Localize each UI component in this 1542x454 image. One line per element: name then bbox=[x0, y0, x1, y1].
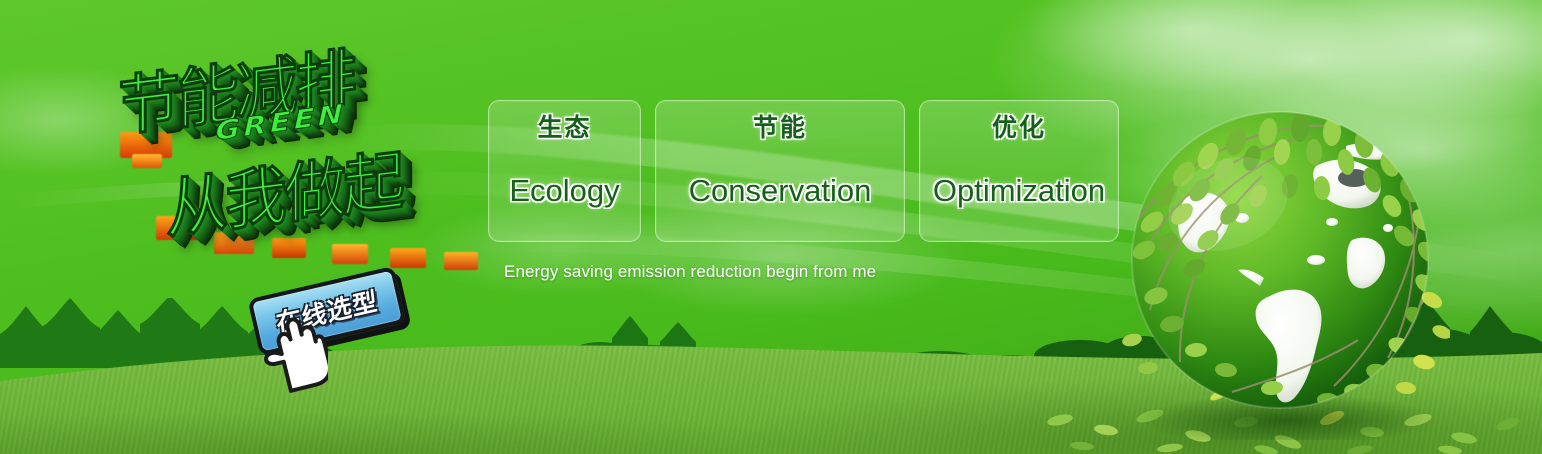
feature-card-conservation-cn: 节能 bbox=[753, 115, 807, 140]
feature-card-ecology-cn: 生态 bbox=[537, 115, 591, 140]
feature-card-optimization-cn: 优化 bbox=[992, 115, 1046, 140]
feature-card-ecology[interactable]: 生态 Ecology bbox=[488, 100, 641, 242]
pointing-hand-cursor-icon bbox=[252, 314, 328, 394]
leaf-covered-earth-globe-icon bbox=[1120, 100, 1450, 440]
eco-promo-banner: 节能减排 GREEN 从我做起 在线选型 生态 Ecology 节能 Conse… bbox=[0, 0, 1542, 454]
feature-card-conservation-en: Conservation bbox=[689, 175, 872, 206]
banner-tagline: Energy saving emission reduction begin f… bbox=[504, 262, 876, 282]
online-selection-cta[interactable]: 在线选型 bbox=[252, 276, 422, 366]
hero-3d-title: 节能减排 GREEN 从我做起 bbox=[96, 36, 496, 266]
feature-card-optimization[interactable]: 优化 Optimization bbox=[919, 100, 1119, 242]
feature-card-ecology-en: Ecology bbox=[509, 175, 619, 206]
title-line-2: 从我做起 bbox=[166, 127, 402, 250]
feature-card-list: 生态 Ecology 节能 Conservation 优化 Optimizati… bbox=[488, 100, 1119, 242]
feature-card-optimization-en: Optimization bbox=[933, 175, 1105, 206]
feature-card-conservation[interactable]: 节能 Conservation bbox=[655, 100, 905, 242]
